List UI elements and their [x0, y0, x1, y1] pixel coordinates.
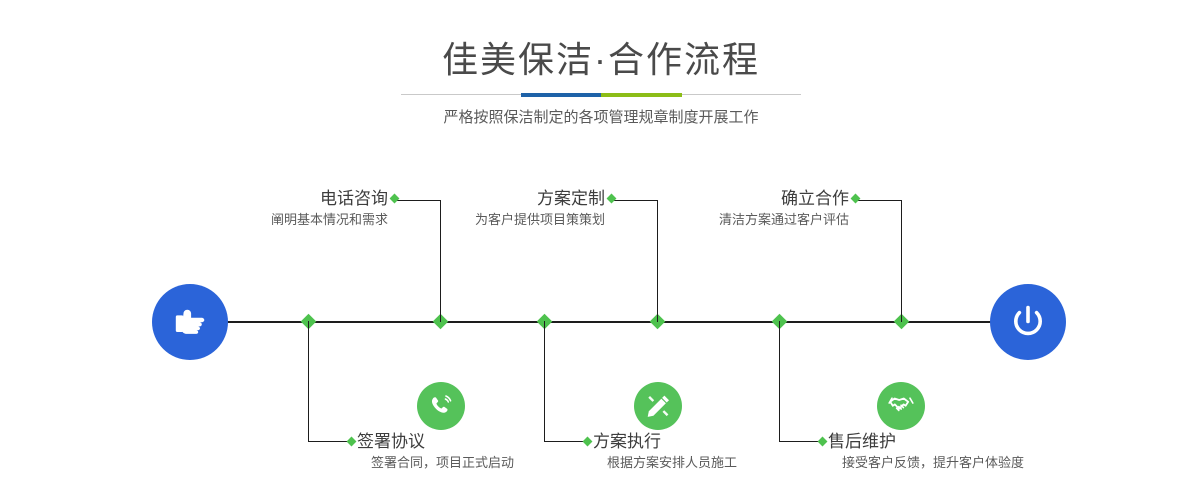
step-node-plan-customization[interactable]	[634, 382, 682, 430]
connector-vertical-sign-agreement	[308, 321, 309, 442]
step-title-after-sales: 售后维护	[828, 431, 1118, 453]
step-desc-plan-execution: 根据方案安排人员施工	[593, 453, 853, 473]
connector-horizontal-sign-agreement	[308, 441, 350, 442]
step-desc-establish-cooperation: 清洁方案通过客户评估	[609, 210, 849, 230]
step-label-establish-cooperation: 确立合作 清洁方案通过客户评估	[609, 188, 849, 230]
timeline-end-node[interactable]	[990, 284, 1066, 360]
step-title-phone-consult: 电话咨询	[150, 188, 388, 210]
step-title-sign-agreement: 签署协议	[357, 431, 617, 453]
page-subtitle: 严格按照保洁制定的各项管理规章制度开展工作	[0, 106, 1202, 130]
step-node-establish-cooperation[interactable]	[877, 382, 925, 430]
step-label-sign-agreement: 签署协议 签署合同，项目正式启动	[357, 431, 617, 473]
step-label-after-sales: 售后维护 接受客户反馈，提升客户体验度	[828, 431, 1118, 473]
label-marker-establish-cooperation	[851, 194, 861, 204]
step-title-plan-customization: 方案定制	[365, 188, 605, 210]
process-timeline: 电话咨询 阐明基本情况和需求 签署协议 签署合同，项目正式启动	[0, 150, 1202, 502]
connector-horizontal-establish-cooperation	[857, 200, 902, 201]
phone-call-icon	[427, 392, 455, 420]
infographic-canvas: 佳美保洁·合作流程 严格按照保洁制定的各项管理规章制度开展工作	[0, 0, 1202, 502]
hand-pointing-right-icon	[169, 301, 211, 343]
step-desc-phone-consult: 阐明基本情况和需求	[150, 210, 388, 230]
step-title-establish-cooperation: 确立合作	[609, 188, 849, 210]
pencil-ruler-icon	[645, 393, 672, 420]
step-label-plan-execution: 方案执行 根据方案安排人员施工	[593, 431, 853, 473]
power-icon	[1006, 300, 1050, 344]
connector-horizontal-after-sales	[779, 441, 821, 442]
step-label-phone-consult: 电话咨询 阐明基本情况和需求	[150, 188, 388, 230]
step-desc-plan-customization: 为客户提供项目策策划	[365, 210, 605, 230]
connector-vertical-establish-cooperation	[901, 200, 902, 322]
step-desc-after-sales: 接受客户反馈，提升客户体验度	[828, 453, 1118, 473]
divider-segment-blue	[521, 93, 601, 97]
connector-vertical-plan-execution	[544, 321, 545, 442]
page-title: 佳美保洁·合作流程	[0, 38, 1202, 82]
connector-vertical-after-sales	[779, 321, 780, 442]
step-node-phone-consult[interactable]	[417, 382, 465, 430]
connector-horizontal-plan-execution	[544, 441, 586, 442]
timeline-start-node[interactable]	[152, 284, 228, 360]
step-title-plan-execution: 方案执行	[593, 431, 853, 453]
header: 佳美保洁·合作流程 严格按照保洁制定的各项管理规章制度开展工作	[0, 0, 1202, 150]
step-desc-sign-agreement: 签署合同，项目正式启动	[357, 453, 617, 473]
label-marker-sign-agreement	[347, 437, 357, 447]
handshake-icon	[887, 392, 915, 420]
divider-segment-green	[601, 93, 682, 97]
title-divider	[401, 93, 801, 97]
step-label-plan-customization: 方案定制 为客户提供项目策策划	[365, 188, 605, 230]
